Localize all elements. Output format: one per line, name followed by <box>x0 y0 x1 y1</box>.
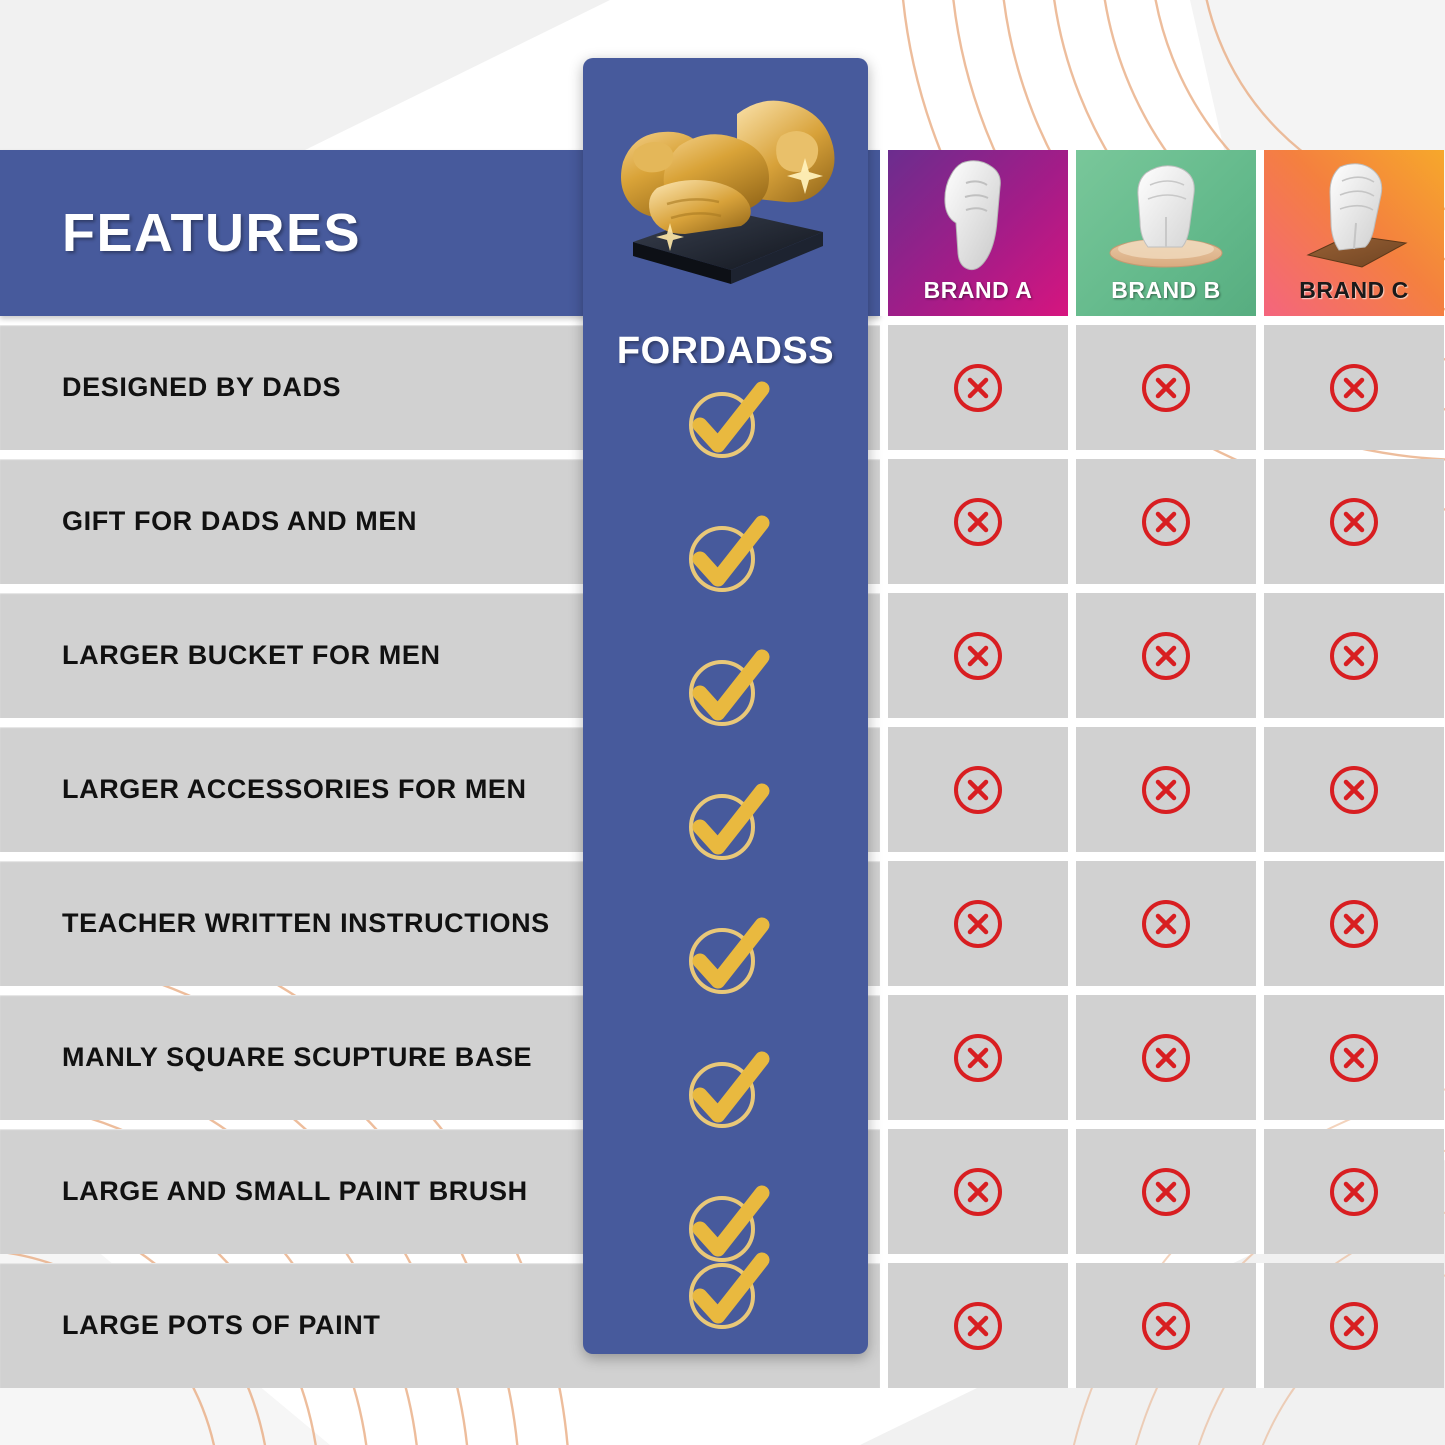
cross-circle-icon <box>1138 1164 1194 1220</box>
cross-circle-icon <box>950 1298 1006 1354</box>
brand-a-label: BRAND A <box>924 279 1033 310</box>
fordadss-brand-label: FORDADSS <box>583 330 868 373</box>
column-divider <box>1256 995 1264 1120</box>
clasped-hands-gold-sculpture-icon <box>605 84 846 299</box>
feature-label: TEACHER WRITTEN INSTRUCTIONS <box>62 908 550 939</box>
cell-brand-b <box>1076 459 1256 584</box>
cross-circle-icon <box>1138 360 1194 416</box>
brand-a-product-photo <box>888 156 1068 276</box>
check-circle-icon <box>678 1043 774 1139</box>
column-divider <box>880 150 888 316</box>
cross-circle-icon <box>1326 494 1382 550</box>
cross-circle-icon <box>1138 762 1194 818</box>
brand-header-brand-a[interactable]: BRAND A <box>888 150 1068 316</box>
brand-header-brand-b[interactable]: BRAND B <box>1076 150 1256 316</box>
column-divider <box>1256 1263 1264 1388</box>
cross-circle-icon <box>950 762 1006 818</box>
cell-brand-b <box>1076 325 1256 450</box>
column-divider <box>1256 150 1264 316</box>
cross-circle-icon <box>1326 1030 1382 1086</box>
cross-circle-icon <box>950 896 1006 952</box>
feature-label: MANLY SQUARE SCUPTURE BASE <box>62 1042 532 1073</box>
column-divider <box>1256 325 1264 450</box>
cell-brand-a <box>888 1129 1068 1254</box>
feature-label: LARGER ACCESSORIES FOR MEN <box>62 774 527 805</box>
column-divider <box>880 995 888 1120</box>
cross-circle-icon <box>1326 1164 1382 1220</box>
feature-label: DESIGNED BY DADS <box>62 372 341 403</box>
feature-label: LARGE POTS OF PAINT <box>62 1310 380 1341</box>
cell-brand-c <box>1264 727 1444 852</box>
column-divider <box>880 593 888 718</box>
cell-brand-a <box>888 459 1068 584</box>
cross-circle-icon <box>950 1164 1006 1220</box>
cell-brand-b <box>1076 727 1256 852</box>
column-divider <box>1256 861 1264 986</box>
cell-brand-b <box>1076 861 1256 986</box>
column-divider <box>1256 459 1264 584</box>
cell-brand-c <box>1264 1129 1444 1254</box>
cell-brand-c <box>1264 459 1444 584</box>
page-title: FEATURES <box>62 202 361 264</box>
column-divider <box>1256 727 1264 852</box>
feature-label: LARGER BUCKET FOR MEN <box>62 640 441 671</box>
cell-brand-c <box>1264 1263 1444 1388</box>
cross-circle-icon <box>950 360 1006 416</box>
column-divider <box>880 1129 888 1254</box>
check-circle-icon <box>678 775 774 871</box>
check-circle-icon <box>678 373 774 469</box>
cross-circle-icon <box>1326 360 1382 416</box>
check-circle-icon <box>678 909 774 1005</box>
column-divider <box>1068 593 1076 718</box>
column-divider <box>880 1263 888 1388</box>
feature-label: LARGE AND SMALL PAINT BRUSH <box>62 1176 528 1207</box>
cell-brand-a <box>888 861 1068 986</box>
column-divider <box>1068 150 1076 316</box>
column-divider <box>880 325 888 450</box>
brand-b-product-photo <box>1076 156 1256 276</box>
cell-brand-b <box>1076 1263 1256 1388</box>
column-divider <box>1068 1129 1076 1254</box>
feature-label: GIFT FOR DADS AND MEN <box>62 506 417 537</box>
brand-c-label: BRAND C <box>1299 279 1409 310</box>
cell-brand-c <box>1264 861 1444 986</box>
column-divider <box>1068 995 1076 1120</box>
column-divider <box>880 727 888 852</box>
column-divider <box>1256 1129 1264 1254</box>
cross-circle-icon <box>1326 628 1382 684</box>
cell-brand-a <box>888 325 1068 450</box>
cell-brand-b <box>1076 593 1256 718</box>
cross-circle-icon <box>1326 1298 1382 1354</box>
cross-circle-icon <box>1138 896 1194 952</box>
brand-b-label: BRAND B <box>1111 279 1221 310</box>
cross-circle-icon <box>1138 1298 1194 1354</box>
column-divider <box>1256 593 1264 718</box>
cross-circle-icon <box>1138 1030 1194 1086</box>
check-circle-icon <box>678 507 774 603</box>
brand-header-brand-c[interactable]: BRAND C <box>1264 150 1444 316</box>
check-circle-icon <box>678 1244 774 1340</box>
brand-c-product-photo <box>1264 156 1444 276</box>
cell-brand-a <box>888 995 1068 1120</box>
cell-brand-c <box>1264 593 1444 718</box>
cross-circle-icon <box>1138 628 1194 684</box>
column-divider <box>1068 1263 1076 1388</box>
column-divider <box>1068 727 1076 852</box>
cross-circle-icon <box>1326 896 1382 952</box>
cross-circle-icon <box>1326 762 1382 818</box>
cell-brand-a <box>888 1263 1068 1388</box>
cross-circle-icon <box>1138 494 1194 550</box>
cross-circle-icon <box>950 628 1006 684</box>
fordadss-highlight-column[interactable]: FORDADSS <box>583 58 868 1354</box>
cell-brand-a <box>888 727 1068 852</box>
column-divider <box>880 861 888 986</box>
column-divider <box>1068 861 1076 986</box>
column-divider <box>1068 459 1076 584</box>
cross-circle-icon <box>950 1030 1006 1086</box>
column-divider <box>1068 325 1076 450</box>
cell-brand-b <box>1076 995 1256 1120</box>
cell-brand-c <box>1264 995 1444 1120</box>
cell-brand-c <box>1264 325 1444 450</box>
column-divider <box>880 459 888 584</box>
check-circle-icon <box>678 641 774 737</box>
cross-circle-icon <box>950 494 1006 550</box>
cell-brand-b <box>1076 1129 1256 1254</box>
cell-brand-a <box>888 593 1068 718</box>
